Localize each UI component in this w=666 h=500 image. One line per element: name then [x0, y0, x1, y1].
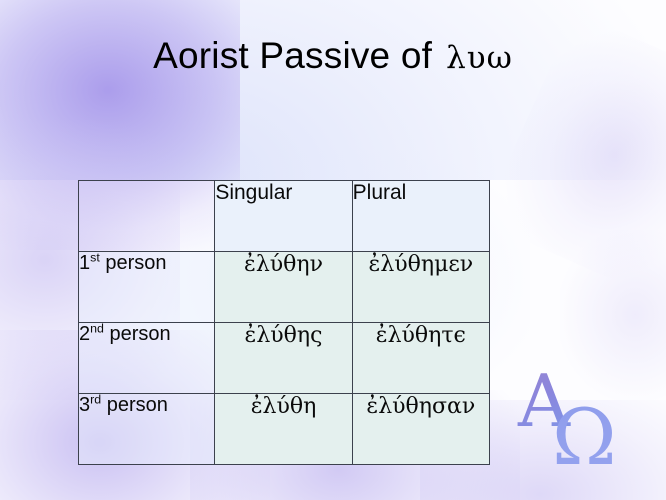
background-wash-top	[0, 0, 666, 180]
column-header-singular: Singular	[215, 181, 352, 252]
row-label-noun: person	[107, 394, 168, 416]
row-label-noun: person	[109, 323, 170, 345]
row-label-noun: person	[105, 252, 166, 274]
form-first-person-singular: ἐλύθην	[215, 252, 352, 323]
logo-omega-glyph: Ω	[552, 393, 617, 470]
table-corner-cell	[79, 181, 215, 252]
slide-title-english: Aorist Passive of	[153, 35, 432, 76]
form-first-person-plural: ἐλύθημεν	[352, 252, 489, 323]
slide-title-greek-lemma: λυω	[446, 40, 513, 76]
slide-canvas: Aorist Passive ofλυω Singular Plural 1st…	[0, 0, 666, 500]
background-wash-right-lower	[560, 230, 666, 400]
form-third-person-singular: ἐλύθη	[215, 394, 352, 465]
logo-alpha-glyph: Α	[517, 366, 571, 443]
table-row: 2nd person ἐλύθης ἐλύθητϵ	[79, 323, 490, 394]
row-label-ordinal: 3	[79, 394, 90, 416]
row-label-ordinal: 2	[79, 323, 90, 345]
table-row: 1st person ἐλύθην ἐλύθημεν	[79, 252, 490, 323]
row-label-first-person: 1st person	[79, 252, 215, 323]
table-row: 3rd person ἐλύθη ἐλύθησαν	[79, 394, 490, 465]
table-header-row: Singular Plural	[79, 181, 490, 252]
row-label-second-person: 2nd person	[79, 323, 215, 394]
row-label-ordinal-suffix: rd	[90, 392, 101, 406]
alpha-omega-logo: Α Ω	[516, 366, 622, 470]
column-header-plural: Plural	[352, 181, 489, 252]
row-label-ordinal-suffix: st	[90, 250, 100, 264]
form-second-person-plural: ἐλύθητϵ	[352, 323, 489, 394]
row-label-third-person: 3rd person	[79, 394, 215, 465]
row-label-ordinal: 1	[79, 252, 90, 274]
form-third-person-plural: ἐλύθησαν	[352, 394, 489, 465]
row-label-ordinal-suffix: nd	[90, 321, 104, 335]
form-second-person-singular: ἐλύθης	[215, 323, 352, 394]
paradigm-table: Singular Plural 1st person ἐλύθην ἐλύθημ…	[78, 180, 490, 465]
slide-title: Aorist Passive ofλυω	[0, 36, 666, 77]
